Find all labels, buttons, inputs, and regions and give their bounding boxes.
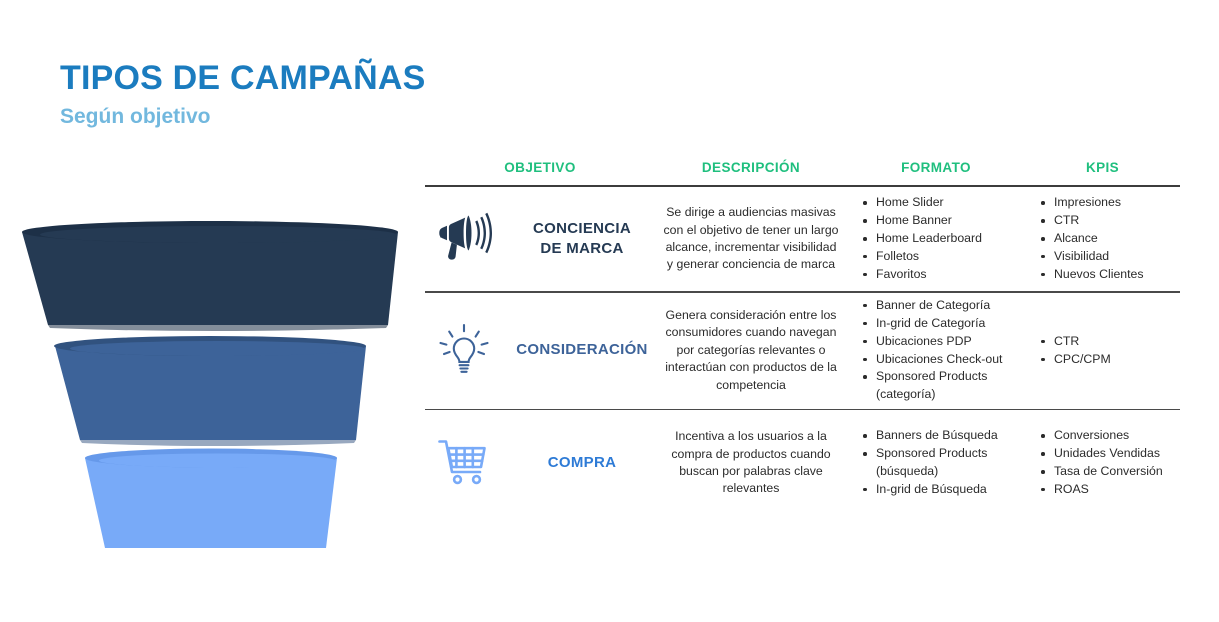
cell-objetivo: COMPRA (425, 435, 655, 491)
cell-descripcion: Incentiva a los usuarios a la compra de … (655, 428, 847, 498)
list-item: Banner de Categoría (863, 297, 1025, 315)
list-item: Home Banner (863, 212, 1025, 230)
list-item: Nuevos Clientes (1041, 266, 1180, 284)
list-item: Sponsored Products (863, 368, 1025, 386)
shopping-cart-icon (427, 435, 501, 491)
cell-descripcion: Se dirige a audiencias masivas con el ob… (655, 204, 847, 274)
cell-formato: Banner de Categoría In-grid de Categoría… (847, 297, 1025, 405)
list-item: Impresiones (1041, 194, 1180, 212)
list-item-continuation: (categoría) (863, 386, 1025, 404)
list-item: Favoritos (863, 266, 1025, 284)
formato-list: Banner de Categoría In-grid de Categoría… (847, 297, 1025, 405)
list-item: In-grid de Categoría (863, 315, 1025, 333)
cell-kpis: Impresiones CTR Alcance Visibilidad Nuev… (1025, 194, 1180, 284)
column-header-objetivo: OBJETIVO (425, 160, 655, 175)
kpis-list: CTR CPC/CPM (1025, 333, 1180, 369)
title-block: TIPOS DE CAMPAÑAS Según objetivo (60, 60, 660, 128)
list-item: Visibilidad (1041, 248, 1180, 266)
list-item: Ubicaciones Check-out (863, 351, 1025, 369)
cell-kpis: CTR CPC/CPM (1025, 333, 1180, 369)
list-item: CPC/CPM (1041, 351, 1180, 369)
formato-list: Home Slider Home Banner Home Leaderboard… (847, 194, 1025, 284)
funnel-segment-consideracion (54, 336, 366, 446)
column-header-descripcion: DESCRIPCIÓN (655, 160, 847, 175)
row-label-line-1: CONCIENCIA (533, 220, 631, 237)
row-label-line-2: DE MARCA (540, 240, 623, 257)
list-item: Sponsored Products (863, 445, 1025, 463)
funnel-segment-conciencia (22, 221, 398, 331)
campaign-table: OBJETIVO DESCRIPCIÓN FORMATO KPIS (425, 160, 1180, 516)
formato-list: Banners de Búsqueda Sponsored Products (… (847, 427, 1025, 499)
cell-formato: Home Slider Home Banner Home Leaderboard… (847, 194, 1025, 284)
page-title: TIPOS DE CAMPAÑAS (60, 60, 660, 97)
row-label: COMPRA (509, 453, 655, 473)
list-item: Tasa de Conversión (1041, 463, 1180, 481)
cell-kpis: Conversiones Unidades Vendidas Tasa de C… (1025, 427, 1180, 499)
list-item-continuation: (búsqueda) (863, 463, 1025, 481)
list-item: Home Slider (863, 194, 1025, 212)
cell-formato: Banners de Búsqueda Sponsored Products (… (847, 427, 1025, 499)
lightbulb-icon (427, 321, 501, 381)
slide-canvas: TIPOS DE CAMPAÑAS Según objetivo (0, 0, 1219, 622)
row-label: CONSIDERACIÓN (509, 340, 655, 360)
list-item: Folletos (863, 248, 1025, 266)
list-item: Alcance (1041, 230, 1180, 248)
list-item: Ubicaciones PDP (863, 333, 1025, 351)
cell-objetivo: CONCIENCIA DE MARCA (425, 211, 655, 267)
column-header-kpis: KPIS (1025, 160, 1180, 175)
megaphone-icon (427, 211, 501, 267)
list-item: Banners de Búsqueda (863, 427, 1025, 445)
page-subtitle: Según objetivo (60, 105, 660, 128)
list-item: Home Leaderboard (863, 230, 1025, 248)
table-row: CONSIDERACIÓN Genera consideración entre… (425, 293, 1180, 409)
list-item: Conversiones (1041, 427, 1180, 445)
cell-descripcion: Genera consideración entre los consumido… (655, 307, 847, 394)
table-row: COMPRA Incentiva a los usuarios a la com… (425, 410, 1180, 516)
kpis-list: Conversiones Unidades Vendidas Tasa de C… (1025, 427, 1180, 499)
funnel-segment-compra (85, 449, 337, 549)
cell-objetivo: CONSIDERACIÓN (425, 321, 655, 381)
marketing-funnel (0, 210, 420, 570)
list-item: CTR (1041, 333, 1180, 351)
kpis-list: Impresiones CTR Alcance Visibilidad Nuev… (1025, 194, 1180, 284)
column-header-formato: FORMATO (847, 160, 1025, 175)
list-item: ROAS (1041, 481, 1180, 499)
row-label: CONCIENCIA DE MARCA (509, 219, 655, 260)
table-header-row: OBJETIVO DESCRIPCIÓN FORMATO KPIS (425, 160, 1180, 185)
list-item: In-grid de Búsqueda (863, 481, 1025, 499)
list-item: CTR (1041, 212, 1180, 230)
table-row: CONCIENCIA DE MARCA Se dirige a audienci… (425, 187, 1180, 291)
list-item: Unidades Vendidas (1041, 445, 1180, 463)
